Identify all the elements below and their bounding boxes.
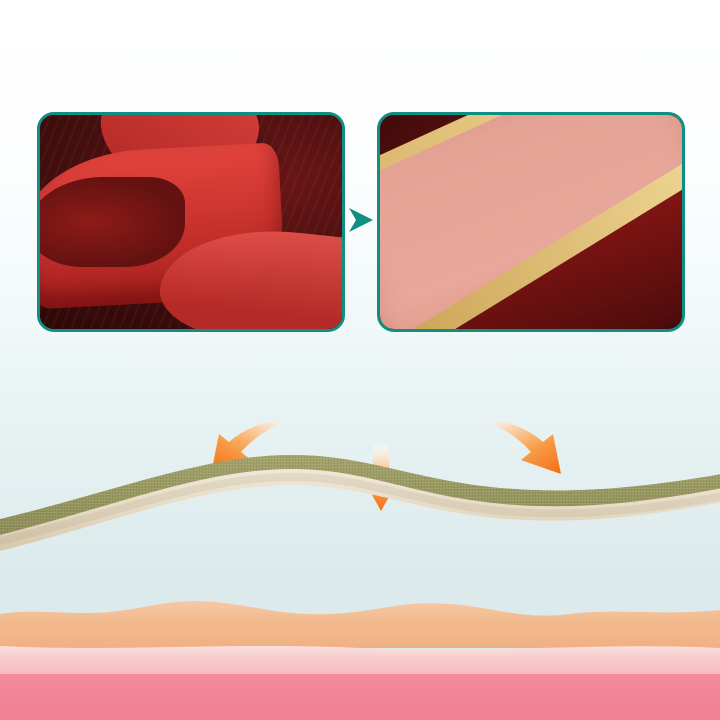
chevron-right-icon — [345, 200, 377, 240]
comparison-panel-after[interactable] — [377, 112, 685, 332]
skin-dermis — [0, 646, 720, 676]
skin-cross-section — [0, 590, 720, 720]
open-vein-illustration — [380, 115, 682, 329]
curved-patch[interactable] — [0, 455, 720, 590]
skin-epidermis — [0, 601, 720, 648]
skin-cell-layer — [0, 674, 720, 720]
comparison-panel-before[interactable] — [37, 112, 345, 332]
clogged-vein-illustration — [40, 115, 342, 329]
infographic-poster — [0, 0, 720, 720]
